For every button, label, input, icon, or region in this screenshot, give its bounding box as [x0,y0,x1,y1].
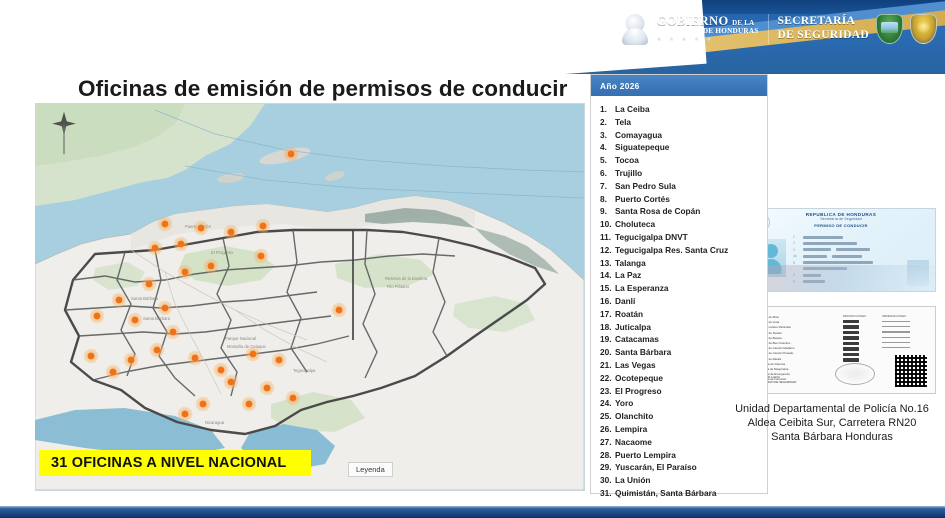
shield-gold-icon [910,14,937,44]
office-item-name: La Paz [615,269,641,282]
office-item-number: 13. [600,257,615,270]
shield-green-icon [876,14,903,44]
svg-text:Santa Bárbara: Santa Bárbara [143,316,171,321]
office-list-item: 22.Ocotepeque [600,372,767,385]
presentation-slide: GOBIERNO DE LA REPÚBLICA DE HONDURAS ★ ★… [0,0,945,518]
office-list-item: 7.San Pedro Sula [600,180,767,193]
map-office-marker[interactable]: Juticalpa [246,347,261,362]
office-item-number: 20. [600,346,615,359]
office-item-name: La Unión [615,474,651,487]
driver-license-back-image: 1. Licencia de Moto2. Licencia de Grúa3.… [746,306,936,394]
office-item-name: Roatán [615,308,643,321]
office-item-name: Yuscarán, El Paraíso [615,461,697,474]
office-item-name: Tocoa [615,154,639,167]
license-type-label: PERMISO DE CONDUCIR [747,223,935,228]
office-list-item: 28.Puerto Lempira [600,449,767,462]
office-item-name: Trujillo [615,167,642,180]
office-item-number: 9. [600,205,615,218]
map-office-marker[interactable]: Comayagua [158,301,173,316]
svg-text:Montaña de Celaque: Montaña de Celaque [227,344,267,349]
map-office-marker[interactable]: La Paz [150,343,165,358]
office-item-name: Choluteca [615,218,655,231]
map-office-marker[interactable]: Roatán [284,147,299,162]
office-item-number: 23. [600,385,615,398]
office-list-item: 11.Tegucigalpa DNVT [600,231,767,244]
address-line-1: Unidad Departamental de Policía No.16 [726,402,938,416]
map-office-marker[interactable]: Tela [174,237,189,252]
map-office-marker[interactable]: Ocotepeque [84,349,99,364]
map-legend-label[interactable]: Leyenda [348,462,393,477]
office-item-number: 8. [600,193,615,206]
office-item-number: 25. [600,410,615,423]
office-item-name: Puerto Lempira [615,449,676,462]
office-list-item: 3.Comayagua [600,129,767,142]
office-item-name: Tegucigalpa Res. Santa Cruz [615,244,728,257]
office-item-number: 4. [600,141,615,154]
svg-text:Reserva de la Biosfera: Reserva de la Biosfera [385,276,428,281]
map-office-marker[interactable]: Siguatepeque [166,325,181,340]
slide-footer-bar [0,506,945,518]
office-list-item: 6.Trujillo [600,167,767,180]
office-item-number: 2. [600,116,615,129]
map-office-marker[interactable]: Trujillo [256,219,271,234]
map-office-marker[interactable]: Choluteca [178,407,193,422]
svg-text:Parque Nacional: Parque Nacional [225,336,256,341]
office-list-item: 8.Puerto Cortés [600,193,767,206]
office-item-name: Juticalpa [615,321,651,334]
office-item-number: 15. [600,282,615,295]
office-item-name: El Progreso [615,385,662,398]
office-item-number: 11. [600,231,615,244]
map-office-marker[interactable]: Catacamas [272,353,287,368]
office-item-number: 31. [600,487,615,500]
license-official-stamp-icon [835,363,875,385]
map-office-marker[interactable]: El Paraíso [286,391,301,406]
map-office-marker[interactable]: Talanga [188,351,203,366]
map-office-marker[interactable]: Nacaome [196,397,211,412]
license-ghost-image [907,260,929,286]
secretaria-text-block: SECRETARÍA DE SEGURIDAD [778,15,869,42]
driver-license-front-image: REPUBLICA DE HONDURAS Secretaría de Segu… [746,208,936,292]
map-office-marker[interactable]: Santa Bárbara [142,277,157,292]
secretaria-line-1: SECRETARÍA [778,15,869,29]
map-office-marker[interactable]: Puerto Lempira [332,303,347,318]
office-item-number: 30. [600,474,615,487]
office-list-item: 29.Yuscarán, El Paraíso [600,461,767,474]
office-list-item: 12.Tegucigalpa Res. Santa Cruz [600,244,767,257]
government-branding: GOBIERNO DE LA REPÚBLICA DE HONDURAS ★ ★… [620,8,937,50]
map-office-marker[interactable]: Santa Rosa de Copán [90,309,105,324]
office-item-number: 18. [600,321,615,334]
police-unit-address: Unidad Departamental de Policía No.16 Al… [726,402,938,444]
office-item-number: 21. [600,359,615,372]
office-item-number: 19. [600,333,615,346]
office-item-number: 12. [600,244,615,257]
brand-gobierno-label: GOBIERNO [657,14,729,28]
office-item-number: 14. [600,269,615,282]
license-qr-code-icon [895,355,927,387]
license-observations-header: OBSERVACIONES [882,314,910,318]
office-item-number: 22. [600,372,615,385]
map-office-marker[interactable]: Tegucigalpa Res. Santa Cruz [224,375,239,390]
slide-header: GOBIERNO DE LA REPÚBLICA DE HONDURAS ★ ★… [0,0,945,74]
office-item-name: Lempira [615,423,647,436]
map-office-marker[interactable]: Tocoa [254,249,269,264]
license-header: REPUBLICA DE HONDURAS Secretaría de Segu… [747,212,935,228]
brand-divider [768,14,769,44]
address-line-2: Aldea Ceibita Sur, Carretera RN20 [726,416,938,430]
office-list-item: 18.Juticalpa [600,321,767,334]
office-list-item: 16.Danlí [600,295,767,308]
office-item-name: Ocotepeque [615,372,663,385]
office-item-number: 27. [600,436,615,449]
office-list-item: 30.La Unión [600,474,767,487]
office-item-name: Danlí [615,295,635,308]
office-item-number: 16. [600,295,615,308]
map-office-marker[interactable]: La Unión [242,397,257,412]
license-ministry-label: Secretaría de Seguridad [747,217,935,221]
office-item-number: 29. [600,461,615,474]
map-office-marker[interactable]: La Esperanza [124,353,139,368]
address-line-3: Santa Bárbara Honduras [726,430,938,444]
office-item-name: Nacaome [615,436,652,449]
map-office-marker[interactable]: Yoro [204,259,219,274]
office-list-item: 23. El Progreso [600,385,767,398]
office-list-item: 21.Las Vegas [600,359,767,372]
office-item-number: 5. [600,154,615,167]
svg-text:Santa Bárbara: Santa Bárbara [131,296,159,301]
left-margin [0,74,35,506]
office-item-name: La Ceiba [615,103,650,116]
office-list-item: 19.Catacamas [600,333,767,346]
office-item-number: 6. [600,167,615,180]
office-item-name: La Esperanza [615,282,669,295]
svg-text:El Progreso: El Progreso [211,250,234,255]
map-office-marker[interactable]: Danlí [260,381,275,396]
map-office-marker[interactable]: La Ceiba [224,225,239,240]
year-header-bar: Año 2026 [591,75,767,96]
office-list-item: 31.Quimistán, Santa Bárbara [600,487,767,500]
office-list-item: 5.Tocoa [600,154,767,167]
office-item-number: 7. [600,180,615,193]
map-office-marker[interactable]: Las Vegas [128,313,143,328]
map-office-marker[interactable]: El Progreso [148,241,163,256]
map-office-marker[interactable]: Olanchito [178,265,193,280]
map-office-marker[interactable]: Puerto Cortés [158,217,173,232]
brand-stars: ★ ★ ★ ★ ★ [657,38,759,44]
offices-count-banner: 31 OFICINAS A NIVEL NACIONAL [39,450,311,476]
office-item-name: Siguatepeque [615,141,669,154]
map-office-marker[interactable]: Quimistán [112,293,127,308]
secretaria-line-2: DE SEGURIDAD [778,29,869,43]
office-item-number: 24. [600,397,615,410]
office-item-name: Comayagua [615,129,662,142]
office-list-item: 17.Roatán [600,308,767,321]
republic-seal-icon [620,12,650,46]
office-item-name: Olanchito [615,410,653,423]
office-list-item: 2.Tela [600,116,767,129]
office-item-number: 1. [600,103,615,116]
gobierno-text-block: GOBIERNO DE LA REPÚBLICA DE HONDURAS ★ ★… [657,15,759,43]
office-item-name: Talanga [615,257,646,270]
brand-dela-label: DE LA [732,19,754,27]
license-restrictions-column: RESTRICCIONES [843,314,866,364]
license-restrictions-header: RESTRICCIONES [843,314,866,318]
svg-text:Río Plátano: Río Plátano [387,284,410,289]
page-title: Oficinas de emisión de permisos de condu… [78,76,567,102]
office-item-name: Santa Rosa de Copán [615,205,700,218]
office-list-item: 15.La Esperanza [600,282,767,295]
office-item-name: San Pedro Sula [615,180,676,193]
header-white-swoosh [0,0,707,74]
license-observations-column: OBSERVACIONES [882,314,910,352]
office-list-item: 20.Santa Bárbara [600,346,767,359]
office-item-name: Quimistán, Santa Bárbara [615,487,716,500]
map-office-marker[interactable]: Lempira [106,365,121,380]
year-label: Año 2026 [600,81,640,91]
office-item-name: Las Vegas [615,359,656,372]
office-item-number: 28. [600,449,615,462]
map-office-marker[interactable]: San Pedro Sula [194,221,209,236]
compass-rose-icon [47,110,81,156]
office-item-name: Puerto Cortés [615,193,670,206]
office-item-name: Catacamas [615,333,659,346]
office-item-name: Tela [615,116,631,129]
brand-republica-label: REPÚBLICA DE HONDURAS [657,28,759,35]
office-item-name: Santa Bárbara [615,346,671,359]
office-list-item: 14.La Paz [600,269,767,282]
office-item-number: 26. [600,423,615,436]
office-list-item: 9.Santa Rosa de Copán [600,205,767,218]
office-item-number: 17. [600,308,615,321]
office-item-name: Tegucigalpa DNVT [615,231,688,244]
office-list-item: 4.Siguatepeque [600,141,767,154]
office-list-item: 10.Choluteca [600,218,767,231]
svg-text:Nicaragua: Nicaragua [205,420,225,425]
map-graphic: Puerto Cortés El Progreso Santa Bárbara … [35,104,584,490]
office-item-number: 10. [600,218,615,231]
honduras-offices-map[interactable]: Puerto Cortés El Progreso Santa Bárbara … [35,104,584,490]
office-list-item: 13.Talanga [600,257,767,270]
office-item-number: 3. [600,129,615,142]
office-item-name: Yoro [615,397,633,410]
svg-text:Tegucigalpa: Tegucigalpa [293,368,316,373]
map-office-marker[interactable]: Tegucigalpa DNVT [214,363,229,378]
offices-count-banner-text: 31 OFICINAS A NIVEL NACIONAL [51,455,286,471]
office-list-item: 1.La Ceiba [600,103,767,116]
